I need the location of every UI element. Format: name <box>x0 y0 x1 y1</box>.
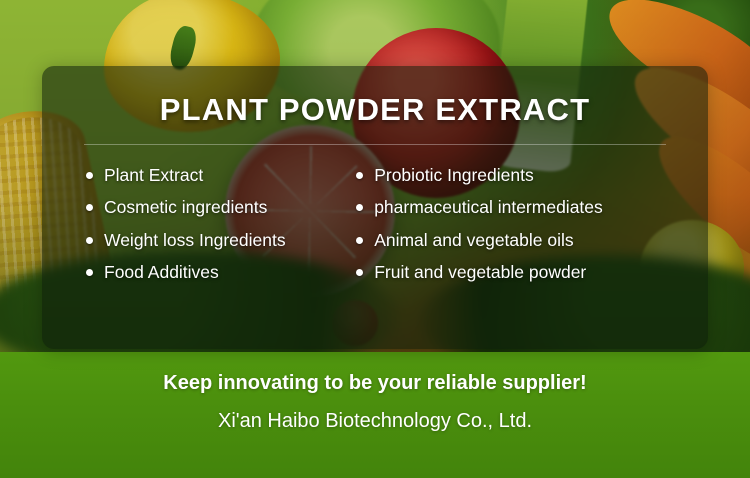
bullet-icon <box>356 237 363 244</box>
bullet-icon <box>356 172 363 179</box>
title-divider <box>84 144 666 145</box>
bullet-icon <box>86 204 93 211</box>
category-lists: Plant Extract Cosmetic ingredients Weigh… <box>86 166 684 282</box>
list-item-label: Weight loss Ingredients <box>104 231 286 250</box>
list-item[interactable]: Plant Extract <box>86 166 356 185</box>
category-column-left: Plant Extract Cosmetic ingredients Weigh… <box>86 166 356 282</box>
product-banner: PLANT POWDER EXTRACT Plant Extract Cosme… <box>0 0 750 478</box>
list-item[interactable]: pharmaceutical intermediates <box>356 198 684 217</box>
list-item[interactable]: Probiotic Ingredients <box>356 166 684 185</box>
list-item[interactable]: Food Additives <box>86 263 356 282</box>
slogan-text: Keep innovating to be your reliable supp… <box>0 372 750 395</box>
bullet-icon <box>356 269 363 276</box>
list-item[interactable]: Animal and vegetable oils <box>356 231 684 250</box>
company-name: Xi'an Haibo Biotechnology Co., Ltd. <box>0 410 750 433</box>
list-item-label: Animal and vegetable oils <box>374 231 573 250</box>
bullet-icon <box>86 237 93 244</box>
list-item-label: pharmaceutical intermediates <box>374 198 603 217</box>
bullet-icon <box>86 172 93 179</box>
bullet-icon <box>356 204 363 211</box>
list-item[interactable]: Weight loss Ingredients <box>86 231 356 250</box>
list-item-label: Food Additives <box>104 263 219 282</box>
list-item-label: Plant Extract <box>104 166 203 185</box>
content-card: PLANT POWDER EXTRACT Plant Extract Cosme… <box>42 66 708 349</box>
list-item-label: Probiotic Ingredients <box>374 166 534 185</box>
list-item-label: Fruit and vegetable powder <box>374 263 586 282</box>
bullet-icon <box>86 269 93 276</box>
page-title: PLANT POWDER EXTRACT <box>42 92 708 128</box>
list-item-label: Cosmetic ingredients <box>104 198 267 217</box>
list-item[interactable]: Fruit and vegetable powder <box>356 263 684 282</box>
list-item[interactable]: Cosmetic ingredients <box>86 198 356 217</box>
category-column-right: Probiotic Ingredients pharmaceutical int… <box>356 166 684 282</box>
